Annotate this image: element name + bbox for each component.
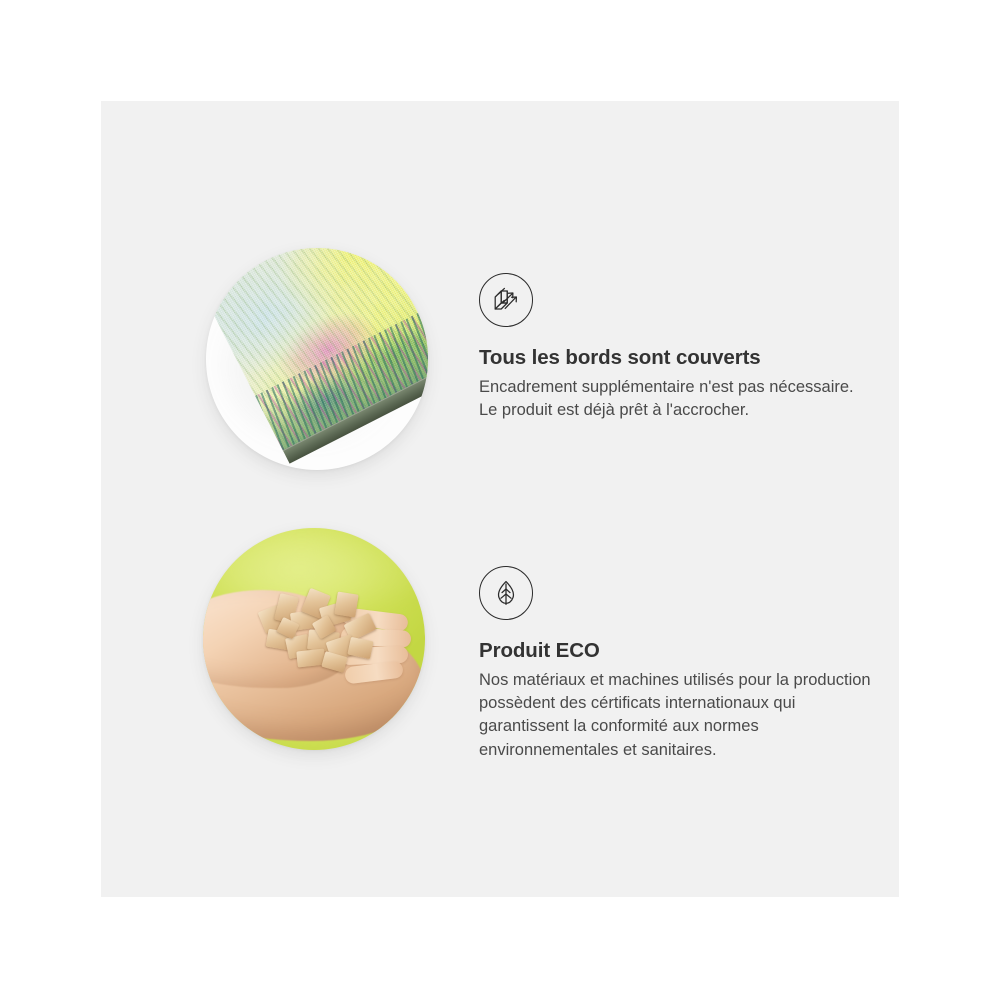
- wood-chips-pile: [256, 588, 385, 677]
- content-panel: Tous les bords sont couverts Encadrement…: [101, 101, 899, 897]
- product-feature-infographic: Tous les bords sont couverts Encadrement…: [0, 0, 1000, 1000]
- feature-title: Tous les bords sont couverts: [479, 346, 879, 371]
- feature-description: Nos matériaux et machines utilisés pour …: [479, 669, 875, 763]
- wood-chips-in-hands-photo: [203, 528, 425, 750]
- feature-description: Encadrement supplémentaire n'est pas néc…: [479, 376, 875, 423]
- canvas-print-block: [206, 248, 428, 464]
- leaf-icon: [479, 566, 533, 620]
- feature-text-eco-product: Produit ECO Nos matériaux et machines ut…: [479, 566, 879, 762]
- feature-title: Produit ECO: [479, 639, 879, 664]
- canvas-corner-photo: [206, 248, 428, 470]
- feature-text-covered-edges: Tous les bords sont couverts Encadrement…: [479, 273, 879, 422]
- wrapped-canvas-edges-icon: [479, 273, 533, 327]
